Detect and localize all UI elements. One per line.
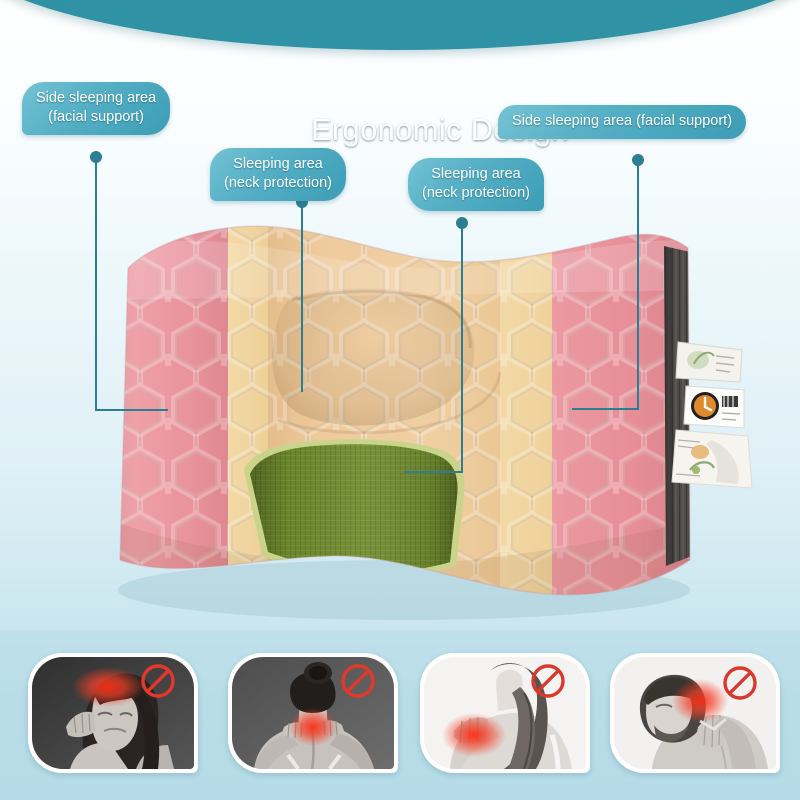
- infographic-page: Ergonomic Design Side sleeping area (fac…: [0, 0, 800, 800]
- leader-dot-icon-1: [90, 151, 102, 163]
- pain-card-headache[interactable]: [28, 653, 198, 773]
- leader-line-3: [404, 226, 462, 472]
- leader-dot-icon-3: [456, 217, 468, 229]
- leader-line-4: [572, 163, 638, 409]
- pain-card-image: [232, 657, 394, 769]
- callout-line-2: (neck protection): [422, 184, 530, 203]
- pain-card-image: [614, 657, 776, 769]
- pain-card-image: [32, 657, 194, 769]
- leader-line-1: [96, 160, 168, 410]
- pain-glow: [672, 679, 728, 723]
- pain-card-neck-pain[interactable]: [228, 653, 398, 773]
- callout-line-2: (neck protection): [224, 174, 332, 193]
- pain-card-shoulder-pain[interactable]: [420, 653, 590, 773]
- callout-side-sleeping-left[interactable]: Side sleeping area (facial support): [22, 82, 170, 135]
- leader-dot-icon-4: [632, 154, 644, 166]
- callout-line-1: Side sleeping area (facial support): [512, 112, 732, 131]
- callout-line-2: (facial support): [36, 108, 156, 127]
- callout-line-1: Side sleeping area: [36, 89, 156, 108]
- pain-point-card-row: [0, 645, 800, 795]
- pain-card-image: [424, 657, 586, 769]
- callout-line-1: Sleeping area: [422, 165, 530, 184]
- callout-neck-protection-left[interactable]: Sleeping area (neck protection): [210, 148, 346, 201]
- callout-line-1: Sleeping area: [224, 155, 332, 174]
- pain-glow: [442, 713, 506, 757]
- pain-card-stiff-neck[interactable]: [610, 653, 780, 773]
- pain-glow: [289, 708, 337, 746]
- callout-side-sleeping-right[interactable]: Side sleeping area (facial support): [498, 105, 746, 139]
- pain-glow: [72, 667, 144, 707]
- callout-neck-protection-right[interactable]: Sleeping area (neck protection): [408, 158, 544, 211]
